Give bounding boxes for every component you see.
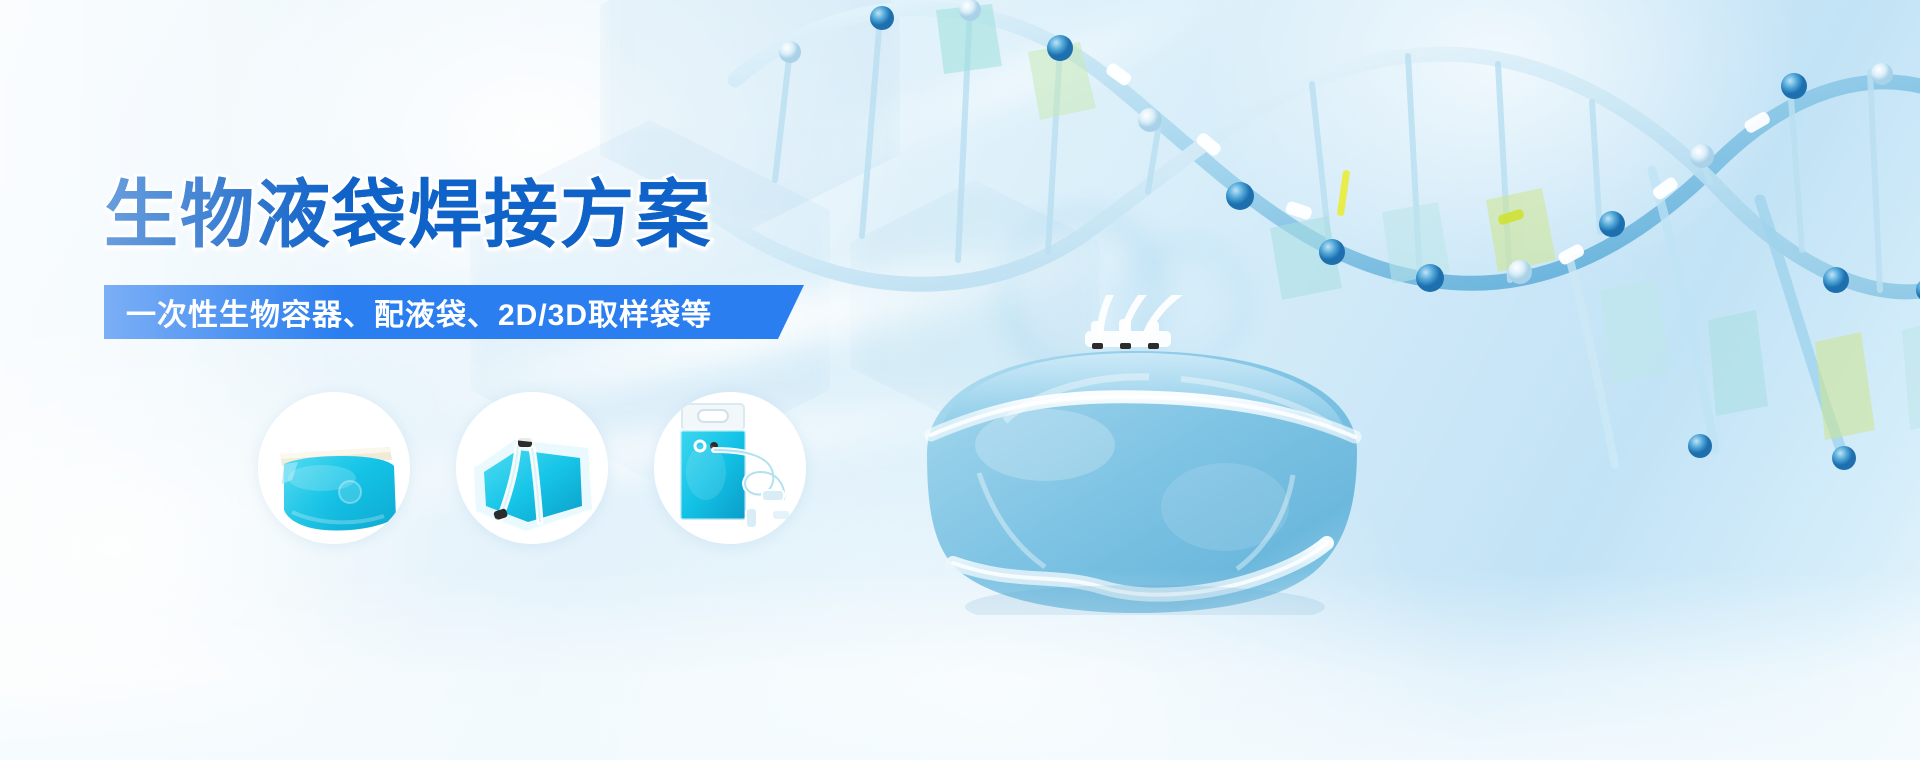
page-title: 生物液袋焊接方案	[104, 178, 712, 252]
subtitle-banner: 一次性生物容器、配液袋、2D/3D取样袋等	[104, 285, 804, 339]
subtitle-text: 一次性生物容器、配液袋、2D/3D取样袋等	[126, 290, 712, 334]
product-thumb-3d-sampling-bag[interactable]	[456, 392, 608, 544]
bioreactor-bag-icon	[895, 295, 1415, 615]
hero-banner: 生物液袋焊接方案 生物液袋焊接方案 一次性生物容器、配液袋、2D/3D取样袋等	[0, 0, 1920, 760]
product-thumb-2d-liquid-bag[interactable]	[258, 392, 410, 544]
product-thumbnail-row	[258, 392, 838, 552]
product-thumb-sampling-bag-set[interactable]	[654, 392, 806, 544]
